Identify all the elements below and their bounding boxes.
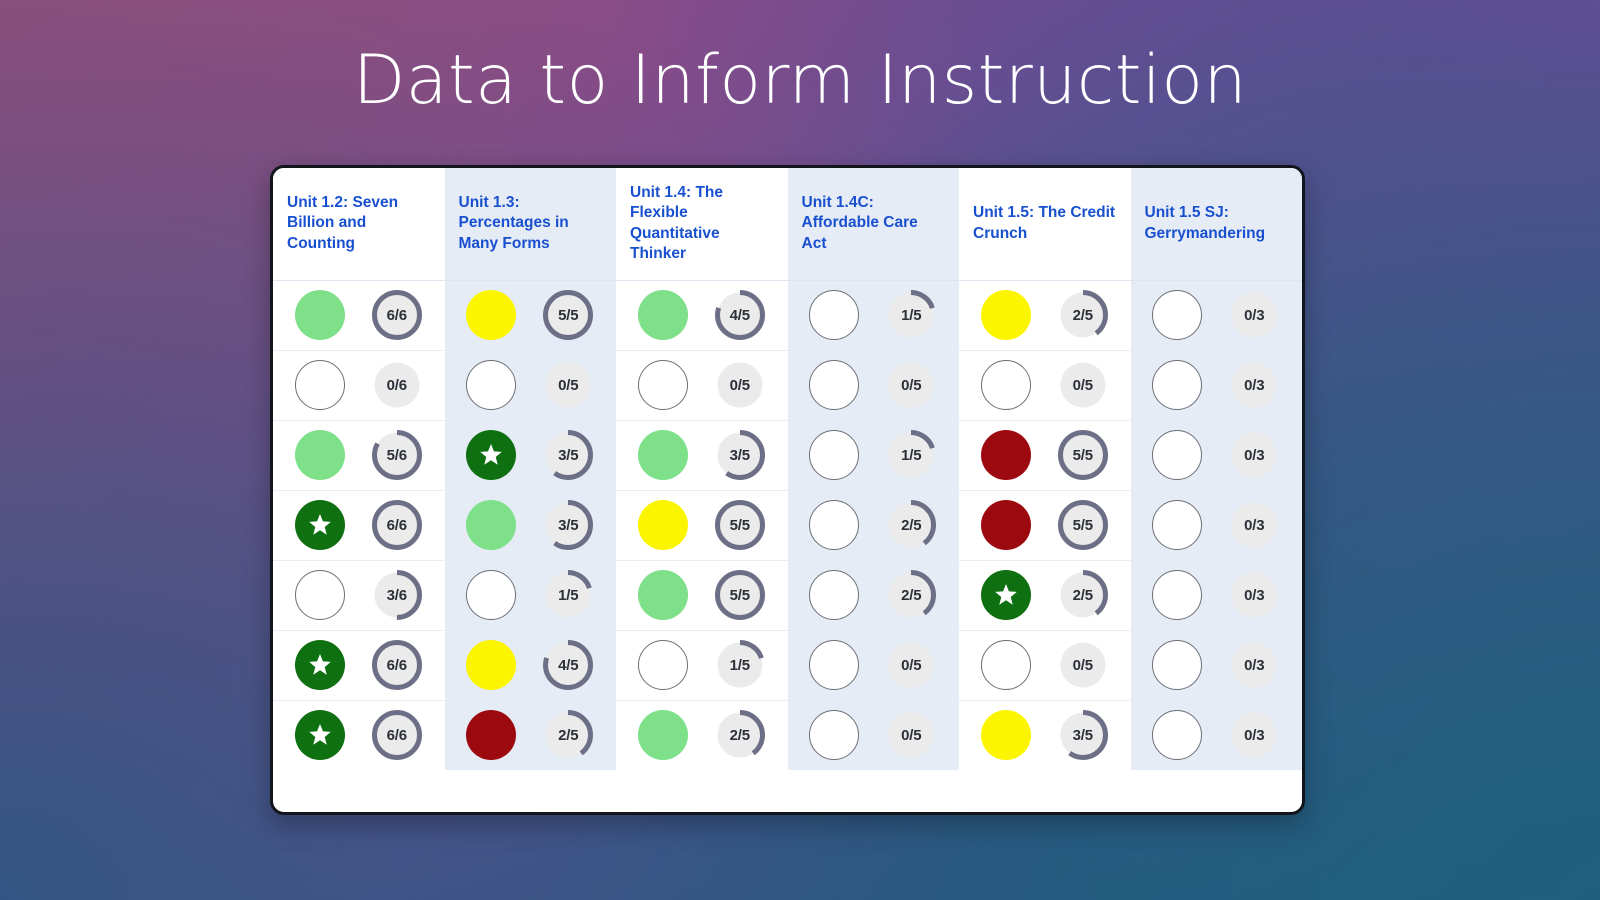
cell-content: 6/6 (273, 701, 445, 771)
status-dot-green[interactable] (295, 430, 345, 480)
cell-content: 2/5 (959, 281, 1131, 350)
cell-content: 5/5 (616, 491, 788, 560)
progress-score-label: 5/5 (1057, 429, 1109, 481)
status-dot-yellow[interactable] (638, 500, 688, 550)
progress-score-label: 0/3 (1228, 639, 1280, 691)
progress-ring[interactable]: 2/5 (885, 569, 937, 621)
table-row: 3/61/55/52/52/50/3 (273, 560, 1302, 630)
progress-ring[interactable]: 0/6 (371, 359, 423, 411)
progress-ring[interactable]: 0/5 (885, 709, 937, 761)
progress-ring[interactable]: 0/5 (885, 639, 937, 691)
cell-content: 1/5 (788, 281, 960, 350)
progress-cell[interactable]: 6/6 (273, 630, 445, 700)
column-header-3[interactable]: Unit 1.4: The Flexible Quantitative Thin… (616, 168, 788, 280)
cell-content: 0/3 (1131, 421, 1303, 490)
status-dot-empty[interactable] (1152, 570, 1202, 620)
progress-ring[interactable]: 6/6 (371, 289, 423, 341)
progress-score-label: 5/6 (371, 429, 423, 481)
status-dot-empty[interactable] (1152, 430, 1202, 480)
progress-ring[interactable]: 5/5 (714, 499, 766, 551)
progress-cell[interactable]: 5/5 (445, 280, 617, 350)
status-dot-empty[interactable] (809, 430, 859, 480)
table-body: 6/65/54/51/52/50/30/60/50/50/50/50/35/63… (273, 280, 1302, 770)
cell-content: 0/3 (1131, 491, 1303, 560)
cell-content: 0/3 (1131, 701, 1303, 771)
progress-score-label: 6/6 (371, 639, 423, 691)
status-dot-green[interactable] (638, 290, 688, 340)
progress-score-label: 0/5 (714, 359, 766, 411)
progress-ring[interactable]: 1/5 (885, 289, 937, 341)
page-title: Data to Inform Instruction (0, 44, 1600, 119)
progress-ring[interactable]: 2/5 (542, 709, 594, 761)
progress-ring[interactable]: 0/5 (542, 359, 594, 411)
cell-content: 0/3 (1131, 351, 1303, 420)
status-dot-empty[interactable] (981, 360, 1031, 410)
status-dot-darkgreen[interactable] (295, 710, 345, 760)
progress-score-label: 0/3 (1228, 569, 1280, 621)
cell-content: 1/5 (445, 561, 617, 630)
cell-content: 2/5 (616, 701, 788, 771)
progress-score-label: 5/5 (1057, 499, 1109, 551)
cell-content: 2/5 (445, 701, 617, 771)
progress-cell[interactable]: 6/6 (273, 700, 445, 770)
column-header-5[interactable]: Unit 1.5: The Credit Crunch (959, 168, 1131, 280)
progress-ring[interactable]: 2/5 (885, 499, 937, 551)
progress-cell[interactable]: 6/6 (273, 280, 445, 350)
progress-ring[interactable]: 5/5 (1057, 429, 1109, 481)
progress-score-label: 1/5 (885, 289, 937, 341)
cell-content: 3/5 (959, 701, 1131, 771)
table-row: 5/63/53/51/55/50/3 (273, 420, 1302, 490)
status-dot-empty[interactable] (1152, 500, 1202, 550)
cell-content: 2/5 (788, 491, 960, 560)
cell-content: 0/3 (1131, 631, 1303, 700)
star-icon (307, 722, 333, 748)
progress-ring[interactable]: 3/5 (1057, 709, 1109, 761)
progress-score-label: 2/5 (1057, 569, 1109, 621)
cell-content: 4/5 (616, 281, 788, 350)
cell-content: 0/5 (788, 701, 960, 771)
progress-score-label: 5/5 (714, 499, 766, 551)
status-dot-yellow[interactable] (981, 290, 1031, 340)
progress-score-label: 3/5 (542, 429, 594, 481)
cell-content: 0/5 (959, 631, 1131, 700)
progress-cell[interactable]: 1/5 (616, 630, 788, 700)
progress-cell[interactable]: 3/5 (445, 490, 617, 560)
cell-content: 3/5 (616, 421, 788, 490)
status-dot-yellow[interactable] (466, 290, 516, 340)
cell-content: 2/5 (788, 561, 960, 630)
progress-score-label: 2/5 (885, 499, 937, 551)
cell-content: 0/5 (616, 351, 788, 420)
progress-ring[interactable]: 0/3 (1228, 639, 1280, 691)
progress-score-label: 3/5 (714, 429, 766, 481)
progress-cell[interactable]: 3/5 (445, 420, 617, 490)
status-dot-empty[interactable] (981, 640, 1031, 690)
progress-score-label: 0/6 (371, 359, 423, 411)
progress-score-label: 2/5 (1057, 289, 1109, 341)
progress-cell[interactable]: 0/5 (959, 350, 1131, 420)
star-icon (307, 512, 333, 538)
cell-content: 0/5 (788, 631, 960, 700)
progress-ring[interactable]: 1/5 (542, 569, 594, 621)
progress-score-label: 1/5 (542, 569, 594, 621)
status-dot-green[interactable] (466, 500, 516, 550)
status-dot-darkred[interactable] (466, 710, 516, 760)
status-dot-empty[interactable] (466, 360, 516, 410)
progress-score-label: 0/5 (885, 639, 937, 691)
progress-cell[interactable]: 4/5 (445, 630, 617, 700)
progress-cell[interactable]: 5/5 (616, 560, 788, 630)
progress-score-label: 5/5 (714, 569, 766, 621)
progress-score-label: 4/5 (542, 639, 594, 691)
cell-content: 5/5 (959, 421, 1131, 490)
status-dot-empty[interactable] (809, 360, 859, 410)
progress-ring[interactable]: 5/5 (542, 289, 594, 341)
status-dot-yellow[interactable] (981, 710, 1031, 760)
status-dot-darkred[interactable] (981, 500, 1031, 550)
progress-score-label: 0/3 (1228, 359, 1280, 411)
progress-score-label: 1/5 (714, 639, 766, 691)
progress-cell[interactable]: 0/3 (1131, 350, 1303, 420)
status-dot-empty[interactable] (809, 640, 859, 690)
progress-ring[interactable]: 5/6 (371, 429, 423, 481)
progress-score-label: 0/5 (885, 709, 937, 761)
progress-score-label: 6/6 (371, 289, 423, 341)
table-header: Unit 1.2: Seven Billion and CountingUnit… (273, 168, 1302, 280)
progress-cell[interactable]: 1/5 (445, 560, 617, 630)
cell-content: 6/6 (273, 631, 445, 700)
cell-content: 3/5 (445, 491, 617, 560)
progress-cell[interactable]: 4/5 (616, 280, 788, 350)
status-dot-empty[interactable] (809, 290, 859, 340)
status-dot-empty[interactable] (1152, 710, 1202, 760)
progress-score-label: 2/5 (714, 709, 766, 761)
status-dot-empty[interactable] (1152, 360, 1202, 410)
status-dot-empty[interactable] (638, 640, 688, 690)
table-row: 6/64/51/50/50/50/3 (273, 630, 1302, 700)
progress-ring[interactable]: 4/5 (714, 289, 766, 341)
cell-content: 0/5 (788, 351, 960, 420)
progress-cell[interactable]: 2/5 (788, 560, 960, 630)
cell-content: 3/6 (273, 561, 445, 630)
column-header-4[interactable]: Unit 1.4C: Affordable Care Act (788, 168, 960, 280)
progress-score-label: 0/5 (1057, 359, 1109, 411)
progress-cell[interactable]: 1/5 (788, 420, 960, 490)
cell-content: 0/3 (1131, 281, 1303, 350)
star-icon (478, 442, 504, 468)
cell-content: 1/5 (788, 421, 960, 490)
progress-ring[interactable]: 0/5 (885, 359, 937, 411)
status-dot-darkred[interactable] (981, 430, 1031, 480)
table-row: 6/63/55/52/55/50/3 (273, 490, 1302, 560)
cell-content: 2/5 (959, 561, 1131, 630)
progress-cell[interactable]: 2/5 (959, 560, 1131, 630)
progress-cell[interactable]: 3/6 (273, 560, 445, 630)
progress-score-label: 2/5 (542, 709, 594, 761)
progress-cell[interactable]: 0/3 (1131, 420, 1303, 490)
progress-score-label: 0/5 (542, 359, 594, 411)
status-dot-empty[interactable] (809, 570, 859, 620)
status-dot-empty[interactable] (809, 710, 859, 760)
column-header-1[interactable]: Unit 1.2: Seven Billion and Counting (273, 168, 445, 280)
progress-ring[interactable]: 3/6 (371, 569, 423, 621)
progress-score-label: 0/5 (1057, 639, 1109, 691)
progress-cell[interactable]: 0/5 (616, 350, 788, 420)
progress-cell[interactable]: 5/5 (616, 490, 788, 560)
table-row: 6/65/54/51/52/50/3 (273, 280, 1302, 350)
progress-ring[interactable]: 0/3 (1228, 499, 1280, 551)
column-header-2[interactable]: Unit 1.3: Percentages in Many Forms (445, 168, 617, 280)
table-row: 6/62/52/50/53/50/3 (273, 700, 1302, 770)
page-root: Data to Inform Instruction Unit 1.2: Sev… (0, 0, 1600, 900)
progress-score-label: 2/5 (885, 569, 937, 621)
progress-cell[interactable]: 0/3 (1131, 280, 1303, 350)
progress-cell[interactable]: 5/5 (959, 420, 1131, 490)
progress-cell[interactable]: 0/6 (273, 350, 445, 420)
table-row: 0/60/50/50/50/50/3 (273, 350, 1302, 420)
progress-cell[interactable]: 0/3 (1131, 700, 1303, 770)
progress-cell[interactable]: 0/5 (959, 630, 1131, 700)
status-dot-empty[interactable] (1152, 640, 1202, 690)
table-header-row: Unit 1.2: Seven Billion and CountingUnit… (273, 168, 1302, 280)
progress-cell[interactable]: 0/3 (1131, 560, 1303, 630)
progress-cell[interactable]: 6/6 (273, 490, 445, 560)
status-dot-empty[interactable] (295, 360, 345, 410)
progress-cell[interactable]: 2/5 (616, 700, 788, 770)
status-dot-darkgreen[interactable] (295, 640, 345, 690)
progress-cell[interactable]: 2/5 (445, 700, 617, 770)
progress-ring[interactable]: 0/3 (1228, 429, 1280, 481)
progress-cell[interactable]: 5/6 (273, 420, 445, 490)
progress-score-label: 5/5 (542, 289, 594, 341)
progress-cell[interactable]: 1/5 (788, 280, 960, 350)
status-dot-green[interactable] (295, 290, 345, 340)
star-icon (307, 652, 333, 678)
progress-ring[interactable]: 2/5 (1057, 569, 1109, 621)
cell-content: 3/5 (445, 421, 617, 490)
progress-cell[interactable]: 3/5 (616, 420, 788, 490)
progress-table: Unit 1.2: Seven Billion and CountingUnit… (273, 168, 1302, 770)
status-dot-empty[interactable] (1152, 290, 1202, 340)
cell-content: 5/5 (959, 491, 1131, 560)
progress-score-label: 4/5 (714, 289, 766, 341)
progress-score-label: 0/5 (885, 359, 937, 411)
cell-content: 0/5 (445, 351, 617, 420)
progress-ring[interactable]: 6/6 (371, 639, 423, 691)
progress-ring[interactable]: 3/5 (542, 429, 594, 481)
progress-ring[interactable]: 0/3 (1228, 359, 1280, 411)
progress-cell[interactable]: 0/5 (445, 350, 617, 420)
progress-score-label: 3/5 (1057, 709, 1109, 761)
progress-score-label: 3/5 (542, 499, 594, 551)
progress-ring[interactable]: 4/5 (542, 639, 594, 691)
progress-score-label: 0/3 (1228, 499, 1280, 551)
cell-content: 6/6 (273, 281, 445, 350)
cell-content: 6/6 (273, 491, 445, 560)
progress-ring[interactable]: 3/5 (542, 499, 594, 551)
progress-cell[interactable]: 0/5 (788, 350, 960, 420)
cell-content: 5/5 (616, 561, 788, 630)
progress-ring[interactable]: 0/3 (1228, 569, 1280, 621)
cell-content: 0/3 (1131, 561, 1303, 630)
progress-ring[interactable]: 0/5 (714, 359, 766, 411)
progress-cell[interactable]: 0/3 (1131, 630, 1303, 700)
progress-cell[interactable]: 0/3 (1131, 490, 1303, 560)
progress-cell[interactable]: 2/5 (788, 490, 960, 560)
progress-ring[interactable]: 3/5 (714, 429, 766, 481)
cell-content: 0/6 (273, 351, 445, 420)
progress-score-label: 6/6 (371, 709, 423, 761)
status-dot-empty[interactable] (809, 500, 859, 550)
status-dot-darkgreen[interactable] (295, 500, 345, 550)
column-header-6[interactable]: Unit 1.5 SJ: Gerrymandering (1131, 168, 1303, 280)
status-dot-darkgreen[interactable] (981, 570, 1031, 620)
progress-score-label: 0/3 (1228, 429, 1280, 481)
status-dot-green[interactable] (638, 710, 688, 760)
status-dot-green[interactable] (638, 570, 688, 620)
progress-score-label: 0/3 (1228, 289, 1280, 341)
cell-content: 0/5 (959, 351, 1131, 420)
status-dot-darkgreen[interactable] (466, 430, 516, 480)
progress-ring[interactable]: 0/5 (1057, 359, 1109, 411)
progress-ring[interactable]: 2/5 (1057, 289, 1109, 341)
progress-cell[interactable]: 2/5 (959, 280, 1131, 350)
progress-ring[interactable]: 5/5 (714, 569, 766, 621)
progress-ring[interactable]: 6/6 (371, 499, 423, 551)
progress-cell[interactable]: 5/5 (959, 490, 1131, 560)
cell-content: 1/5 (616, 631, 788, 700)
cell-content: 5/6 (273, 421, 445, 490)
progress-ring[interactable]: 5/5 (1057, 499, 1109, 551)
status-dot-empty[interactable] (466, 570, 516, 620)
progress-ring[interactable]: 0/5 (1057, 639, 1109, 691)
progress-ring[interactable]: 0/3 (1228, 709, 1280, 761)
progress-grid-card: Unit 1.2: Seven Billion and CountingUnit… (270, 165, 1305, 815)
progress-cell[interactable]: 3/5 (959, 700, 1131, 770)
cell-content: 4/5 (445, 631, 617, 700)
progress-ring[interactable]: 1/5 (714, 639, 766, 691)
progress-score-label: 1/5 (885, 429, 937, 481)
status-dot-empty[interactable] (295, 570, 345, 620)
status-dot-green[interactable] (638, 430, 688, 480)
progress-score-label: 6/6 (371, 499, 423, 551)
progress-cell[interactable]: 0/5 (788, 700, 960, 770)
progress-ring[interactable]: 0/3 (1228, 289, 1280, 341)
progress-score-label: 3/6 (371, 569, 423, 621)
progress-ring[interactable]: 1/5 (885, 429, 937, 481)
progress-cell[interactable]: 0/5 (788, 630, 960, 700)
status-dot-empty[interactable] (638, 360, 688, 410)
cell-content: 5/5 (445, 281, 617, 350)
progress-ring[interactable]: 6/6 (371, 709, 423, 761)
progress-ring[interactable]: 2/5 (714, 709, 766, 761)
progress-score-label: 0/3 (1228, 709, 1280, 761)
status-dot-yellow[interactable] (466, 640, 516, 690)
star-icon (993, 582, 1019, 608)
